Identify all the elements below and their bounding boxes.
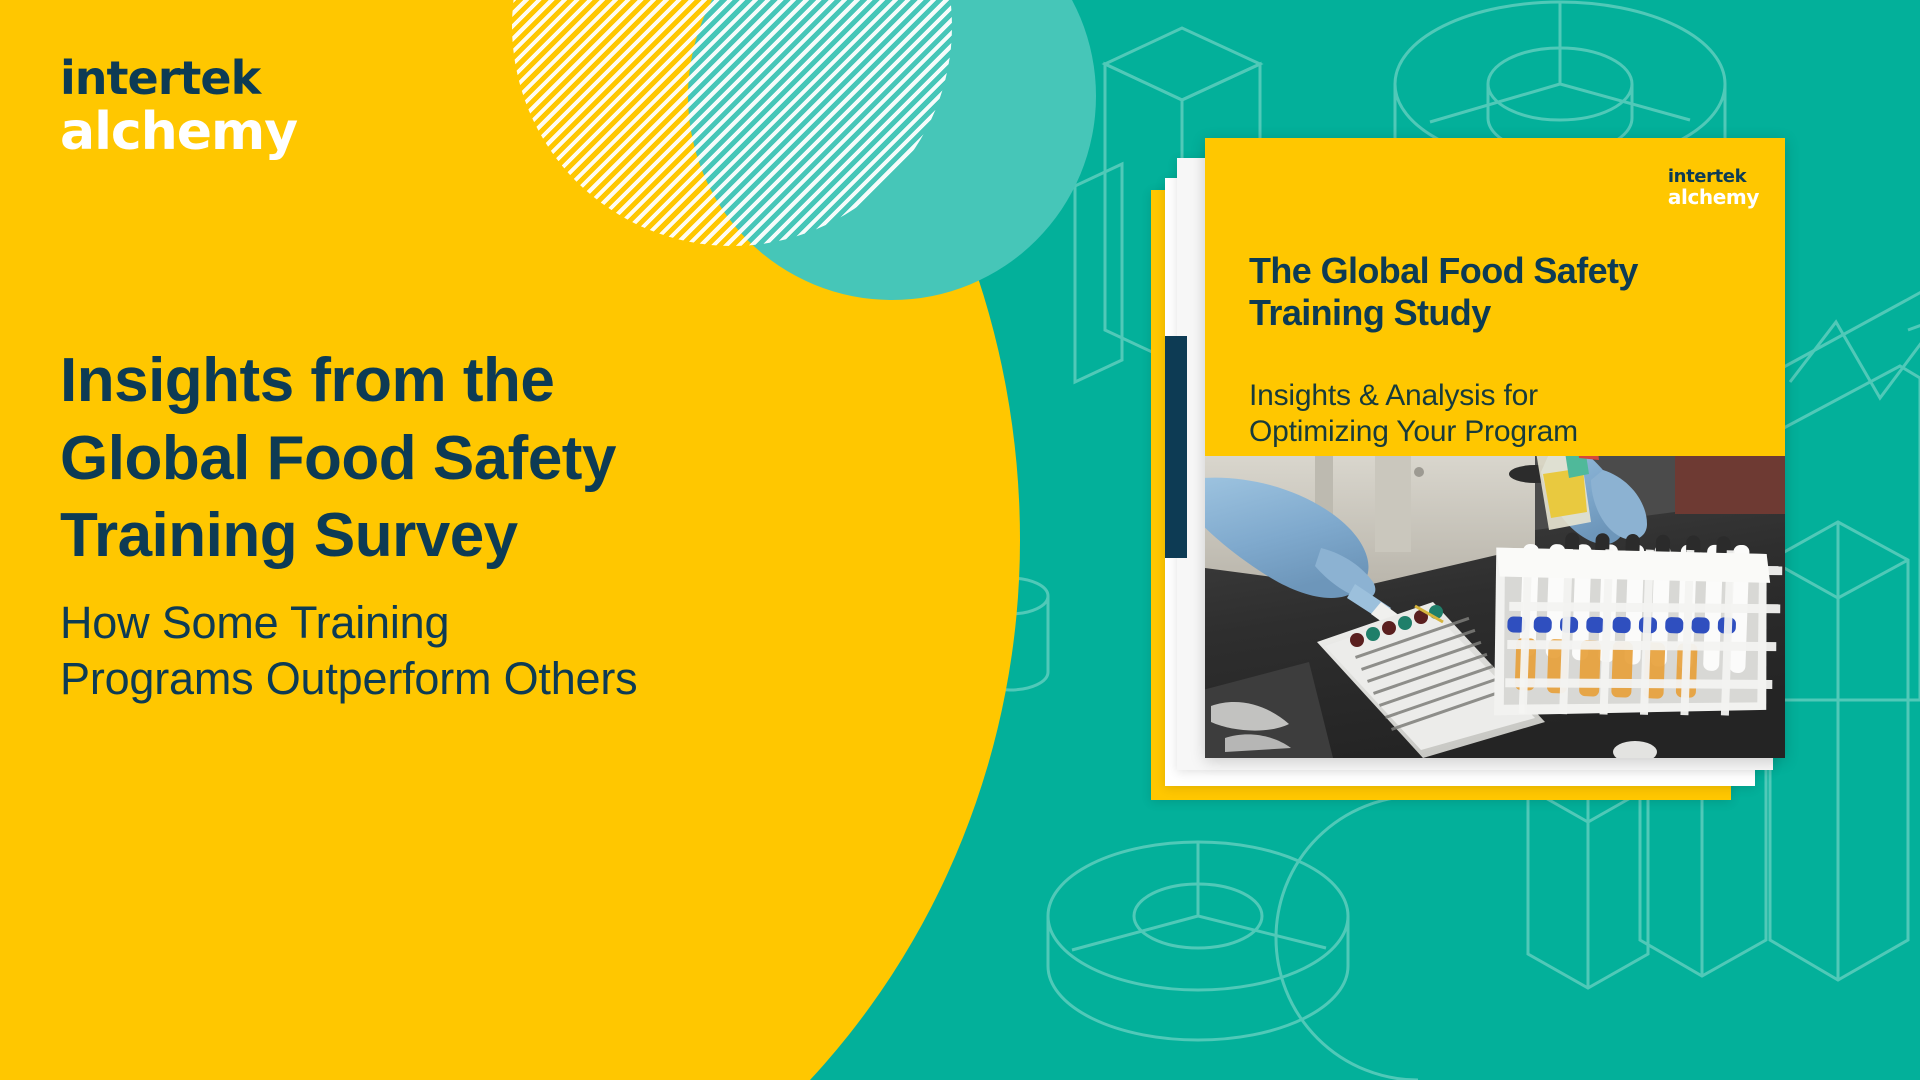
- brand-logo-intertek: intertek: [60, 55, 420, 101]
- report-cover-logo-intertek: intertek: [1668, 168, 1759, 186]
- report-title-line-1: The Global Food Safety: [1249, 250, 1749, 292]
- subheadline-line-1: How Some Training: [60, 595, 780, 651]
- lab-photo-illustration: [1205, 456, 1785, 758]
- headline-line-3: Training Survey: [60, 497, 760, 575]
- report-subtitle-line-2: Optimizing Your Program: [1249, 414, 1729, 450]
- page-subtitle: How Some Training Programs Outperform Ot…: [60, 595, 780, 707]
- report-subtitle-line-1: Insights & Analysis for: [1249, 378, 1729, 414]
- brand-logo-alchemy: alchemy: [60, 105, 420, 160]
- report-cover-photo: [1205, 456, 1785, 758]
- report-cover-logo: intertek alchemy: [1668, 168, 1759, 208]
- brand-logo: intertek alchemy: [60, 55, 420, 160]
- subheadline-line-2: Programs Outperform Others: [60, 651, 780, 707]
- headline-line-2: Global Food Safety: [60, 420, 760, 498]
- report-cover-title: The Global Food Safety Training Study: [1249, 250, 1749, 335]
- page-title: Insights from the Global Food Safety Tra…: [60, 342, 760, 575]
- report-title-line-2: Training Study: [1249, 292, 1749, 334]
- report-cover-mockup: intertek alchemy The Global Food Safety …: [1155, 138, 1815, 778]
- report-cover-subtitle: Insights & Analysis for Optimizing Your …: [1249, 378, 1729, 450]
- report-cover-logo-alchemy: alchemy: [1668, 187, 1759, 208]
- report-spine-accent: [1165, 336, 1187, 558]
- headline-line-1: Insights from the: [60, 342, 760, 420]
- slide-canvas: intertek alchemy Insights from the Globa…: [0, 0, 1920, 1080]
- report-front-cover: intertek alchemy The Global Food Safety …: [1205, 138, 1785, 758]
